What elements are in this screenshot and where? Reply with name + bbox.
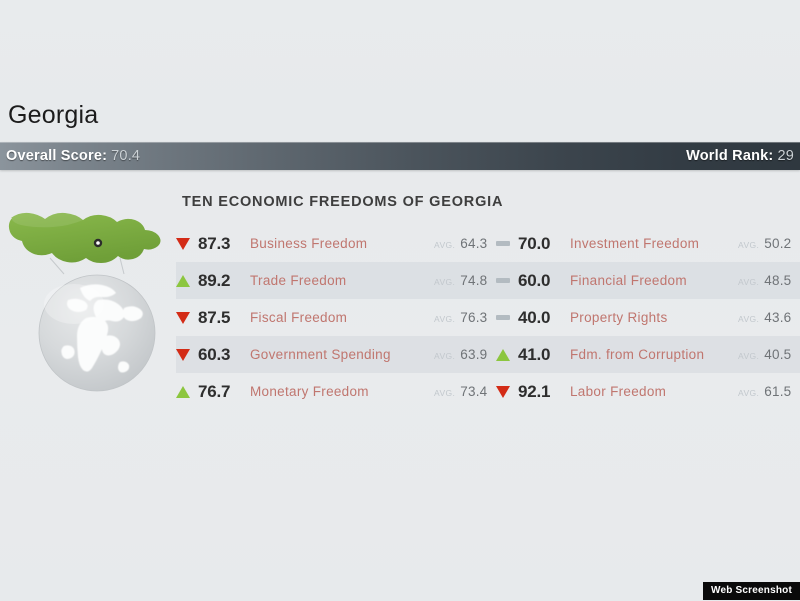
avg-label: AVG. (738, 277, 759, 287)
freedom-name[interactable]: Fiscal Freedom (250, 310, 434, 325)
freedom-name[interactable]: Fdm. from Corruption (570, 347, 738, 362)
freedom-score: 89.2 (198, 271, 250, 291)
avg-value: 61.5 (764, 384, 791, 399)
georgia-country-map (9, 213, 161, 263)
freedoms-table: 87.3 Business Freedom AVG. 64.3 70.0 Inv… (176, 225, 800, 410)
freedom-score: 76.7 (198, 382, 250, 402)
avg-value: 40.5 (764, 347, 791, 362)
table-row: 60.3 Government Spending AVG. 63.9 41.0 … (176, 336, 800, 373)
freedom-score: 41.0 (518, 345, 570, 365)
page-title: Georgia (8, 103, 98, 128)
country-map-graphic (2, 196, 172, 396)
freedom-name[interactable]: Property Rights (570, 310, 738, 325)
table-row: 87.5 Fiscal Freedom AVG. 76.3 40.0 Prope… (176, 299, 800, 336)
freedom-score: 40.0 (518, 308, 570, 328)
freedom-item[interactable]: 92.1 Labor Freedom AVG. 61.5 (496, 373, 800, 410)
freedom-item[interactable]: 60.3 Government Spending AVG. 63.9 (176, 336, 496, 373)
trend-up-icon (176, 386, 198, 398)
freedom-score: 60.0 (518, 271, 570, 291)
watermark-badge: Web Screenshot (703, 582, 800, 600)
freedom-average: AVG. 61.5 (738, 384, 800, 399)
freedom-score: 60.3 (198, 345, 250, 365)
freedom-item[interactable]: 41.0 Fdm. from Corruption AVG. 40.5 (496, 336, 800, 373)
world-rank: World Rank: 29 (686, 149, 794, 164)
freedom-item[interactable]: 87.3 Business Freedom AVG. 64.3 (176, 225, 496, 262)
freedom-name[interactable]: Government Spending (250, 347, 434, 362)
avg-label: AVG. (738, 314, 759, 324)
freedom-name[interactable]: Trade Freedom (250, 273, 434, 288)
freedom-item[interactable]: 87.5 Fiscal Freedom AVG. 76.3 (176, 299, 496, 336)
trend-down-icon (496, 386, 518, 398)
world-rank-value: 29 (777, 148, 794, 164)
freedom-item[interactable]: 89.2 Trade Freedom AVG. 74.8 (176, 262, 496, 299)
overall-score-value: 70.4 (111, 148, 140, 164)
freedom-average: AVG. 63.9 (434, 347, 496, 362)
avg-label: AVG. (434, 351, 455, 361)
overall-score: Overall Score: 70.4 (6, 149, 140, 164)
freedom-item[interactable]: 60.0 Financial Freedom AVG. 48.5 (496, 262, 800, 299)
trend-down-icon (176, 349, 198, 361)
avg-label: AVG. (434, 314, 455, 324)
freedom-item[interactable]: 76.7 Monetary Freedom AVG. 73.4 (176, 373, 496, 410)
trend-neutral-icon (496, 315, 518, 320)
freedom-item[interactable]: 40.0 Property Rights AVG. 43.6 (496, 299, 800, 336)
table-row: 89.2 Trade Freedom AVG. 74.8 60.0 Financ… (176, 262, 800, 299)
freedom-average: AVG. 76.3 (434, 310, 496, 325)
world-rank-label: World Rank: (686, 148, 773, 164)
score-summary-bar: Overall Score: 70.4 World Rank: 29 (0, 142, 800, 170)
avg-value: 73.4 (460, 384, 487, 399)
table-row: 87.3 Business Freedom AVG. 64.3 70.0 Inv… (176, 225, 800, 262)
avg-label: AVG. (434, 277, 455, 287)
freedom-average: AVG. 50.2 (738, 236, 800, 251)
avg-label: AVG. (738, 388, 759, 398)
avg-label: AVG. (738, 351, 759, 361)
freedom-score: 70.0 (518, 234, 570, 254)
capital-dot (94, 239, 102, 247)
avg-value: 63.9 (460, 347, 487, 362)
table-row: 76.7 Monetary Freedom AVG. 73.4 92.1 Lab… (176, 373, 800, 410)
freedom-score: 87.5 (198, 308, 250, 328)
freedom-name[interactable]: Monetary Freedom (250, 384, 434, 399)
overall-score-label: Overall Score: (6, 148, 107, 164)
avg-value: 74.8 (460, 273, 487, 288)
avg-label: AVG. (738, 240, 759, 250)
freedom-average: AVG. 73.4 (434, 384, 496, 399)
freedom-name[interactable]: Financial Freedom (570, 273, 738, 288)
freedom-average: AVG. 48.5 (738, 273, 800, 288)
freedom-score: 92.1 (518, 382, 570, 402)
freedom-average: AVG. 40.5 (738, 347, 800, 362)
freedom-name[interactable]: Business Freedom (250, 236, 434, 251)
avg-label: AVG. (434, 388, 455, 398)
avg-value: 48.5 (764, 273, 791, 288)
avg-value: 43.6 (764, 310, 791, 325)
trend-down-icon (176, 238, 198, 250)
avg-value: 64.3 (460, 236, 487, 251)
avg-label: AVG. (434, 240, 455, 250)
freedom-name[interactable]: Labor Freedom (570, 384, 738, 399)
avg-value: 50.2 (764, 236, 791, 251)
map-leader-lines (50, 258, 124, 274)
freedom-average: AVG. 43.6 (738, 310, 800, 325)
trend-up-icon (496, 349, 518, 361)
freedom-name[interactable]: Investment Freedom (570, 236, 738, 251)
freedom-item[interactable]: 70.0 Investment Freedom AVG. 50.2 (496, 225, 800, 262)
globe-icon (39, 275, 155, 391)
trend-neutral-icon (496, 278, 518, 283)
freedom-average: AVG. 64.3 (434, 236, 496, 251)
trend-down-icon (176, 312, 198, 324)
panel-heading: TEN ECONOMIC FREEDOMS OF GEORGIA (182, 195, 503, 210)
trend-neutral-icon (496, 241, 518, 246)
freedom-average: AVG. 74.8 (434, 273, 496, 288)
trend-up-icon (176, 275, 198, 287)
avg-value: 76.3 (460, 310, 487, 325)
freedom-score: 87.3 (198, 234, 250, 254)
